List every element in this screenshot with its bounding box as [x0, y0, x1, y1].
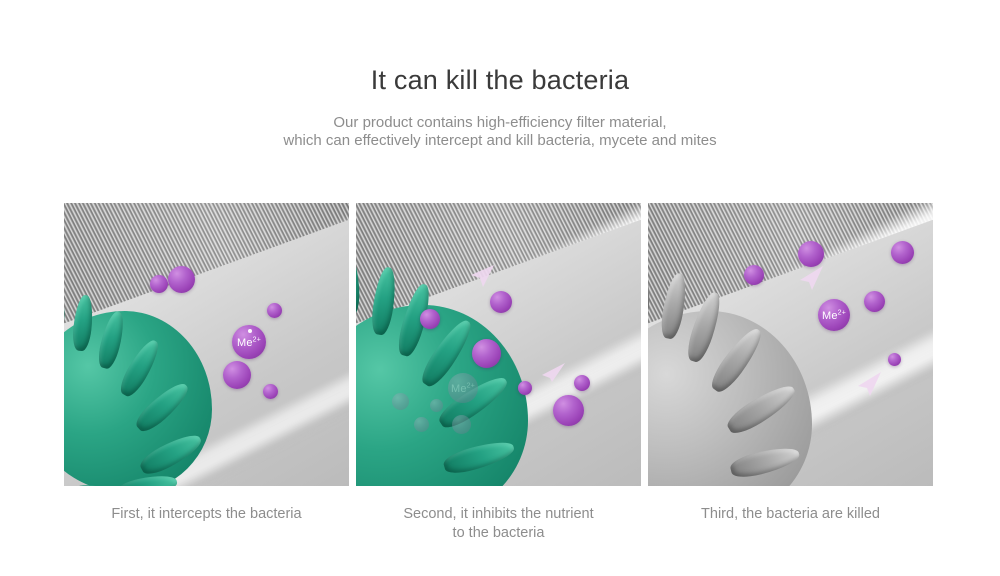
- ion-label: Me2+: [818, 309, 850, 322]
- ion-sphere-internal-labeled: Me2+: [448, 373, 478, 403]
- panel-killed: Me2+: [648, 203, 933, 486]
- slide-root: It can kill the bacteria Our product con…: [0, 0, 1000, 576]
- illustration-panels: Me2+: [64, 203, 933, 486]
- ion-sphere-internal: [430, 399, 443, 412]
- ion-sphere: [267, 303, 282, 318]
- ion-sphere: [744, 265, 764, 285]
- panel-intercept: Me2+: [64, 203, 349, 486]
- bacterium-spike: [648, 263, 650, 320]
- panel-captions: First, it intercepts the bacteria Second…: [64, 505, 933, 565]
- bacterium-spike: [64, 284, 66, 329]
- caption-panel-3: Third, the bacteria are killed: [648, 505, 933, 565]
- ion-sphere-internal: [414, 417, 429, 432]
- caption-line-1: Second, it inhibits the nutrient: [403, 506, 593, 522]
- bacterium-spike: [356, 257, 360, 316]
- ion-sphere-internal: [392, 393, 409, 410]
- arrow-inward-icon: [468, 261, 498, 291]
- arrow-outward-icon: [854, 369, 884, 399]
- page-subtitle: Our product contains high-efficiency fil…: [0, 96, 1000, 151]
- ion-sphere: [223, 361, 251, 389]
- ion-sphere: [553, 395, 584, 426]
- ion-sphere-internal: [452, 415, 471, 434]
- subtitle-line-2: which can effectively intercept and kill…: [0, 132, 1000, 151]
- ion-sphere: [888, 353, 901, 366]
- caption-panel-1: First, it intercepts the bacteria: [64, 505, 349, 565]
- arrow-inward-icon: [538, 355, 568, 385]
- heading-block: It can kill the bacteria Our product con…: [0, 0, 1000, 151]
- ion-sphere: [472, 339, 501, 368]
- ion-sphere: [490, 291, 512, 313]
- ion-sphere: [518, 381, 532, 395]
- ion-sphere-labeled: Me2+: [818, 299, 850, 331]
- caption-line-1: Third, the bacteria are killed: [701, 506, 880, 522]
- ion-sphere: [150, 275, 168, 293]
- caption-panel-2: Second, it inhibits the nutrient to the …: [356, 505, 641, 565]
- bacterium-alive: [64, 271, 248, 486]
- ion-sphere: [420, 309, 440, 329]
- ion-label: Me2+: [232, 336, 266, 349]
- ion-sphere: [168, 266, 195, 293]
- ion-sphere: [574, 375, 590, 391]
- subtitle-line-1: Our product contains high-efficiency fil…: [333, 114, 666, 131]
- ion-label: Me2+: [448, 382, 478, 395]
- caption-line-2: to the bacteria: [356, 524, 641, 543]
- ion-sphere: [864, 291, 885, 312]
- ion-sphere: [891, 241, 914, 264]
- ion-sphere-labeled: Me2+: [232, 325, 266, 359]
- caption-line-1: First, it intercepts the bacteria: [111, 506, 301, 522]
- bacterium-alive: [356, 253, 568, 486]
- panel-inhibit: Me2+: [356, 203, 641, 486]
- ion-sphere: [263, 384, 278, 399]
- arrow-outward-icon: [796, 263, 826, 293]
- page-title: It can kill the bacteria: [0, 0, 1000, 96]
- specular-highlight: [248, 329, 252, 333]
